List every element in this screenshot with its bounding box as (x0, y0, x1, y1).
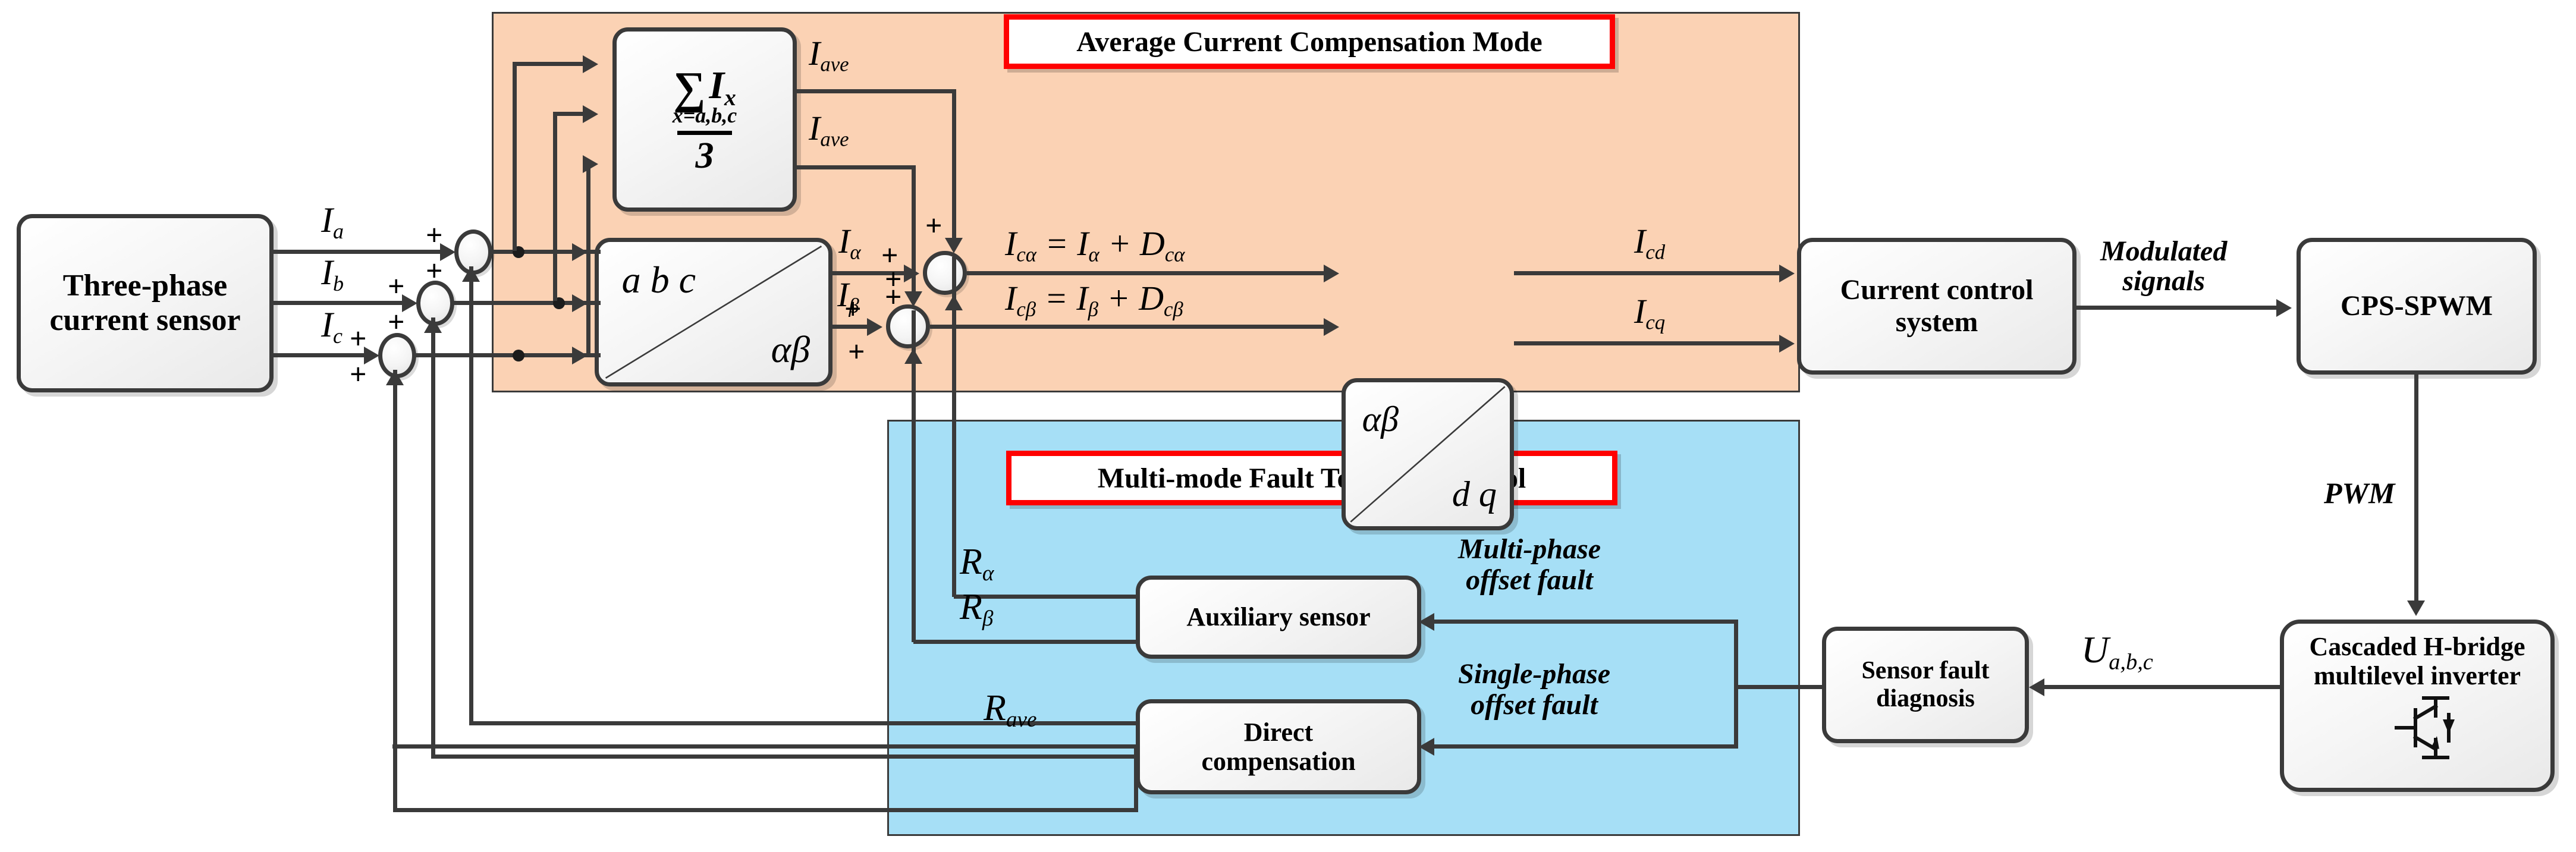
average-current-block[interactable]: ∑ Ix x=a,b,c 3 (612, 27, 797, 212)
label-ialpha: Iα (838, 221, 861, 264)
direct-compensation-block[interactable]: Direct compensation (1136, 699, 1421, 794)
sensor-fault-line-2: diagnosis (1861, 685, 1989, 713)
arrowhead-iave-bot (904, 291, 922, 307)
label-modulated-signals: Modulated signals (2100, 237, 2227, 297)
current-control-system-block[interactable]: Current control system (1797, 238, 2076, 375)
plus-a-bottom: + (426, 253, 443, 288)
plus-b-top: + (388, 269, 405, 303)
sigma-limits: x=a,b,c (673, 105, 737, 126)
wire-fault-split (1734, 620, 1738, 687)
arrowhead-fb-a (462, 266, 480, 282)
arrowhead-ialpha (904, 265, 919, 282)
current-control-line-2: system (1840, 306, 2034, 338)
plus-beta-3: + (848, 334, 865, 369)
junction-dot-c (513, 350, 524, 361)
average-formula: ∑ Ix x=a,b,c 3 (673, 65, 737, 174)
wire-rbeta (913, 640, 1138, 644)
wire-fb-b-v (431, 317, 435, 759)
arrowhead-abc-b (572, 294, 588, 312)
wire-rave (392, 744, 1138, 749)
arrowhead-pwm (2407, 601, 2425, 616)
wire-iave-top (797, 89, 956, 93)
inverter-line-2: multilevel inverter (2290, 661, 2544, 690)
plus-a-top: + (426, 218, 443, 252)
arrowhead-icq (1779, 335, 1795, 353)
direct-comp-line-2: compensation (1201, 747, 1355, 776)
alphabeta-label: αβ (771, 328, 810, 371)
arrowhead-iave-top (945, 238, 963, 253)
plus-c-top: + (350, 321, 367, 356)
cps-spwm-label: CPS-SPWM (2335, 290, 2499, 322)
label-ia: Ia (321, 200, 344, 244)
igbt-symbol-icon (2373, 694, 2462, 761)
arrowhead-avg-a (583, 55, 598, 73)
three-phase-current-sensor-block[interactable]: Three-phase current sensor (17, 214, 274, 392)
fraction-denominator: 3 (696, 137, 714, 174)
auxiliary-sensor-label: Auxiliary sensor (1180, 602, 1376, 631)
equation-alpha: Icα = Iα + Dcα (1005, 224, 1185, 266)
arrowhead-avg-c (583, 155, 598, 173)
label-icd: Icd (1634, 221, 1665, 264)
plus-beta-1: + (885, 262, 902, 296)
dq-label: d q (1452, 474, 1497, 514)
arrowhead-icbeta (1324, 318, 1339, 336)
wire-singlephase-v (1734, 685, 1738, 748)
arrowhead-ibeta (867, 318, 882, 336)
arrowhead-uabc (2029, 678, 2044, 696)
inverter-line-1: Cascaded H-bridge (2290, 632, 2544, 661)
equation-beta: Icβ = Iβ + Dcβ (1005, 278, 1183, 321)
wire-iave-bot (797, 165, 916, 169)
arrowhead-abc-a (572, 243, 588, 261)
arrowhead-avg-b (583, 105, 598, 123)
fraction-bar (677, 131, 731, 135)
auxiliary-sensor-block[interactable]: Auxiliary sensor (1136, 576, 1421, 659)
direct-comp-line-1: Direct (1201, 718, 1355, 747)
average-mode-caption-text: Average Current Compensation Mode (1076, 26, 1542, 58)
label-ibeta: Iβ (837, 275, 859, 317)
label-icq: Icq (1634, 291, 1665, 334)
label-rave: Rave (984, 687, 1036, 732)
wire-uabc (2036, 685, 2280, 689)
current-control-line-1: Current control (1840, 274, 2034, 306)
label-pwm: PWM (2324, 476, 2395, 510)
plus-b-bottom: + (388, 304, 405, 339)
wire-multiphase (1432, 620, 1738, 624)
arrowhead-modulated (2276, 299, 2292, 317)
arrowhead-multiphase (1419, 613, 1434, 631)
arrowhead-icalpha (1324, 265, 1339, 282)
label-ralpha: Rα (960, 541, 994, 586)
wire-avg-feed-a (513, 62, 517, 251)
sigma-argument: I (709, 64, 724, 107)
alphabeta-to-dq-block[interactable]: αβ d q (1342, 378, 1514, 530)
sensor-line-1: Three-phase (49, 269, 240, 303)
wire-icbeta (930, 325, 1330, 329)
sensor-line-2: current sensor (49, 303, 240, 338)
wire-icq (1514, 341, 1785, 345)
sensor-fault-diagnosis-block[interactable]: Sensor fault diagnosis (1822, 627, 2029, 743)
wire-fb-a-v (469, 266, 473, 725)
arrowhead-abc-c (572, 347, 588, 364)
label-singlephase-fault: Single-phase offset fault (1458, 659, 1610, 721)
alphabeta-label-2: αβ (1362, 400, 1399, 439)
wire-singlephase (1432, 744, 1738, 749)
label-rbeta: Rβ (960, 586, 993, 631)
label-ib: Ib (321, 252, 344, 296)
fault-mode-caption-box: Multi-mode Fault Tolerant Control (1006, 451, 1617, 505)
wire-fb-a-h (469, 721, 1138, 725)
plus-c-bottom: + (350, 357, 367, 391)
abc-to-alphabeta-block[interactable]: a b c αβ (595, 238, 833, 386)
abc-label: a b c (622, 259, 696, 301)
label-multiphase-fault: Multi-phase offset fault (1458, 534, 1601, 596)
wire-avg-feed-a-h (513, 62, 589, 66)
wire-fb-b-h (431, 754, 1138, 759)
label-iave-1: Iave (809, 33, 849, 76)
wire-pwm (2414, 375, 2418, 604)
average-mode-caption-box: Average Current Compensation Mode (1004, 14, 1615, 69)
arrowhead-icd (1779, 265, 1795, 282)
arrowhead-rbeta-sum (904, 348, 922, 364)
wire-icalpha (967, 271, 1330, 275)
plus-alpha-1: + (925, 208, 943, 243)
summing-junction-alpha[interactable] (923, 251, 967, 295)
wire-avg-feed-b (553, 112, 557, 301)
sensor-fault-line-1: Sensor fault (1861, 657, 1989, 685)
arrowhead-ralpha-sum (945, 295, 963, 310)
wire-fault-out (1734, 685, 1823, 689)
wire-ia (274, 250, 446, 254)
wire-fb-c-h (393, 808, 1138, 812)
label-uabc: Ua,b,c (2081, 628, 2153, 675)
wire-iave-top-v (952, 89, 956, 244)
cps-spwm-block[interactable]: CPS-SPWM (2297, 238, 2537, 375)
label-iave-2: Iave (809, 108, 849, 151)
arrowhead-fb-c (386, 370, 404, 385)
wire-modulated (2076, 306, 2282, 310)
wire-icd (1514, 271, 1785, 275)
cascaded-h-bridge-inverter-block[interactable]: Cascaded H-bridge multilevel inverter (2280, 620, 2555, 792)
wire-fb-c-riser (1134, 749, 1138, 810)
arrowhead-singlephase (1419, 738, 1434, 756)
wire-fb-c-v (393, 370, 397, 812)
arrowhead-fb-b (424, 317, 442, 333)
label-ic: Ic (321, 304, 343, 348)
block-diagram-canvas: Average Current Compensation Mode Multi-… (0, 0, 2576, 852)
